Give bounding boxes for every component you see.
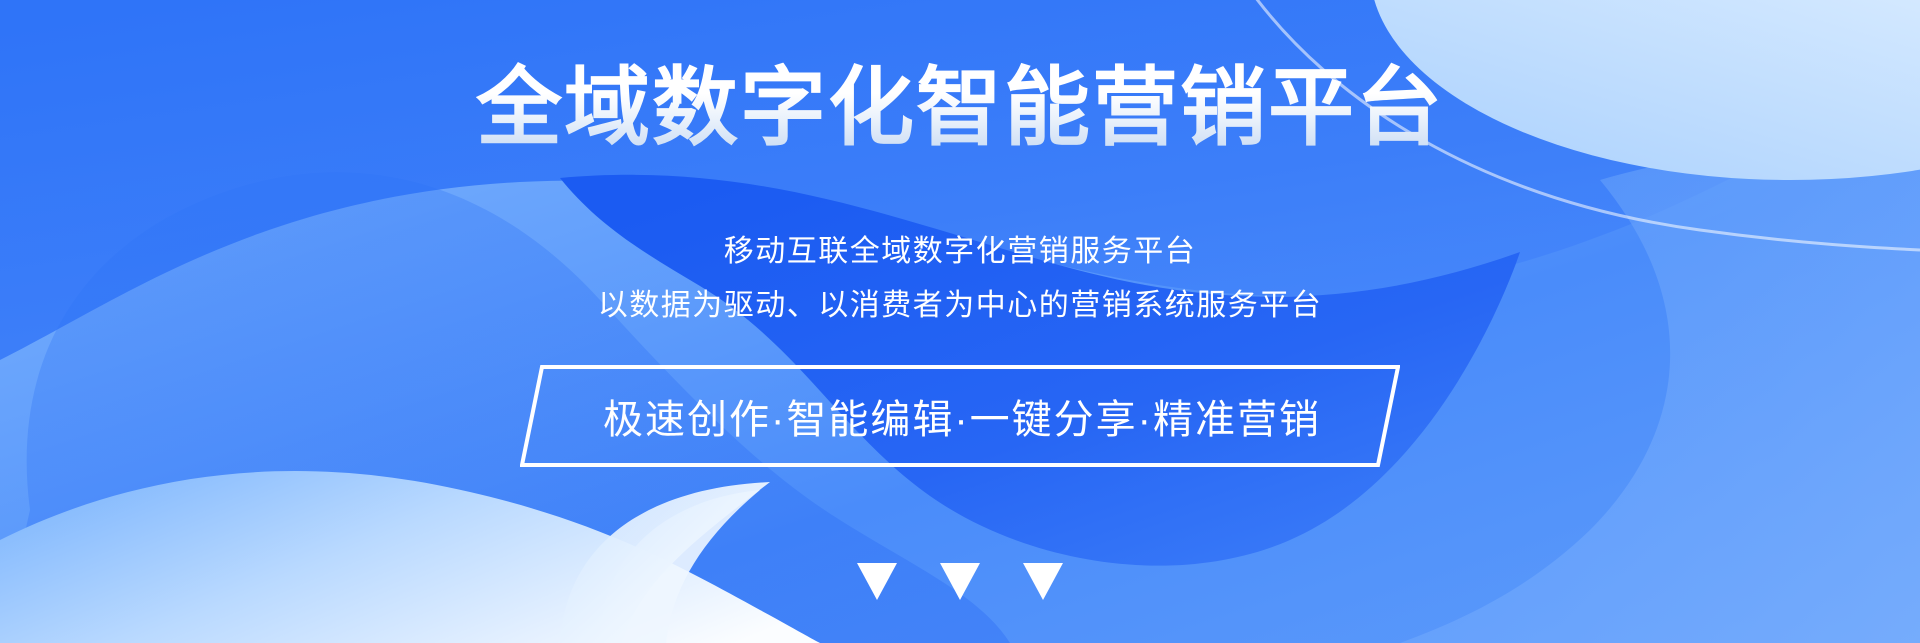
subtitle-line-2: 以数据为驱动、以消费者为中心的营销系统服务平台	[598, 288, 1323, 324]
page-title: 全域数字化智能营销平台	[476, 62, 1444, 155]
banner-content: 全域数字化智能营销平台 移动互联全域数字化营销服务平台 以数据为驱动、以消费者为…	[0, 0, 1920, 643]
marketing-hero-banner: 全域数字化智能营销平台 移动互联全域数字化营销服务平台 以数据为驱动、以消费者为…	[0, 0, 1920, 643]
subtitle-line-1: 移动互联全域数字化营销服务平台	[724, 234, 1197, 270]
tagline-text: 极速创作·智能编辑·一键分享·精准营销	[520, 364, 1400, 468]
tagline-banner: 极速创作·智能编辑·一键分享·精准营销	[520, 364, 1400, 468]
subtitle-group: 移动互联全域数字化营销服务平台 以数据为驱动、以消费者为中心的营销系统服务平台	[598, 234, 1323, 324]
